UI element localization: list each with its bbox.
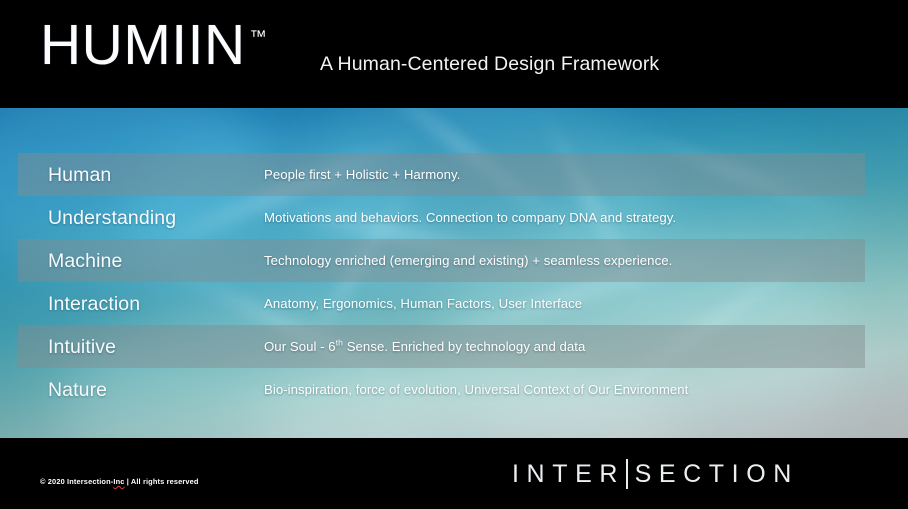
logo-text-left: INTER xyxy=(512,459,625,489)
framework-row[interactable]: Intuitive Our Soul - 6th Sense. Enriched… xyxy=(0,325,908,368)
framework-row[interactable]: Nature Bio-inspiration, force of evoluti… xyxy=(0,368,908,411)
row-label: Understanding xyxy=(48,207,264,229)
row-description: Bio-inspiration, force of evolution, Uni… xyxy=(264,381,688,399)
logo-text-right: SECTION xyxy=(635,459,799,489)
framework-row[interactable]: Machine Technology enriched (emerging an… xyxy=(0,239,908,282)
row-description: Technology enriched (emerging and existi… xyxy=(264,252,672,270)
logo-divider-bar xyxy=(626,459,628,489)
row-description-pre: Our Soul - 6 xyxy=(264,339,336,354)
copyright-text-pre: © 2020 Intersection- xyxy=(40,477,113,486)
row-description-superscript: th xyxy=(336,337,343,347)
row-description: Our Soul - 6th Sense. Enriched by techno… xyxy=(264,338,585,356)
intersection-logo: INTER SECTION xyxy=(512,459,799,489)
row-description: People first + Holistic + Harmony. xyxy=(264,166,460,184)
framework-rows: Human People first + Holistic + Harmony.… xyxy=(0,108,908,438)
row-label: Human xyxy=(48,164,264,186)
framework-row[interactable]: Human People first + Holistic + Harmony. xyxy=(0,153,908,196)
framework-row[interactable]: Understanding Motivations and behaviors.… xyxy=(0,196,908,239)
slide-canvas: HUMIIN ™ A Human-Centered Design Framewo… xyxy=(0,0,908,509)
brand-name: HUMIIN xyxy=(40,16,246,74)
row-label: Machine xyxy=(48,250,264,272)
slide-body-background: Human People first + Holistic + Harmony.… xyxy=(0,108,908,438)
framework-row[interactable]: Interaction Anatomy, Ergonomics, Human F… xyxy=(0,282,908,325)
copyright-notice: © 2020 Intersection-Inc | All rights res… xyxy=(40,477,199,487)
row-description: Anatomy, Ergonomics, Human Factors, User… xyxy=(264,295,582,313)
row-label: Intuitive xyxy=(48,336,264,358)
brand-lockup: HUMIIN ™ xyxy=(40,16,267,74)
row-label: Nature xyxy=(48,379,264,401)
row-description: Motivations and behaviors. Connection to… xyxy=(264,209,676,227)
slide-header: HUMIIN ™ A Human-Centered Design Framewo… xyxy=(0,0,908,108)
trademark-symbol: ™ xyxy=(250,28,268,45)
row-label: Interaction xyxy=(48,293,264,315)
copyright-misspelled-word: Inc xyxy=(113,477,124,486)
copyright-text-post: | All rights reserved xyxy=(125,477,199,486)
row-description-post: Sense. Enriched by technology and data xyxy=(343,339,585,354)
slide-tagline: A Human-Centered Design Framework xyxy=(320,52,659,76)
